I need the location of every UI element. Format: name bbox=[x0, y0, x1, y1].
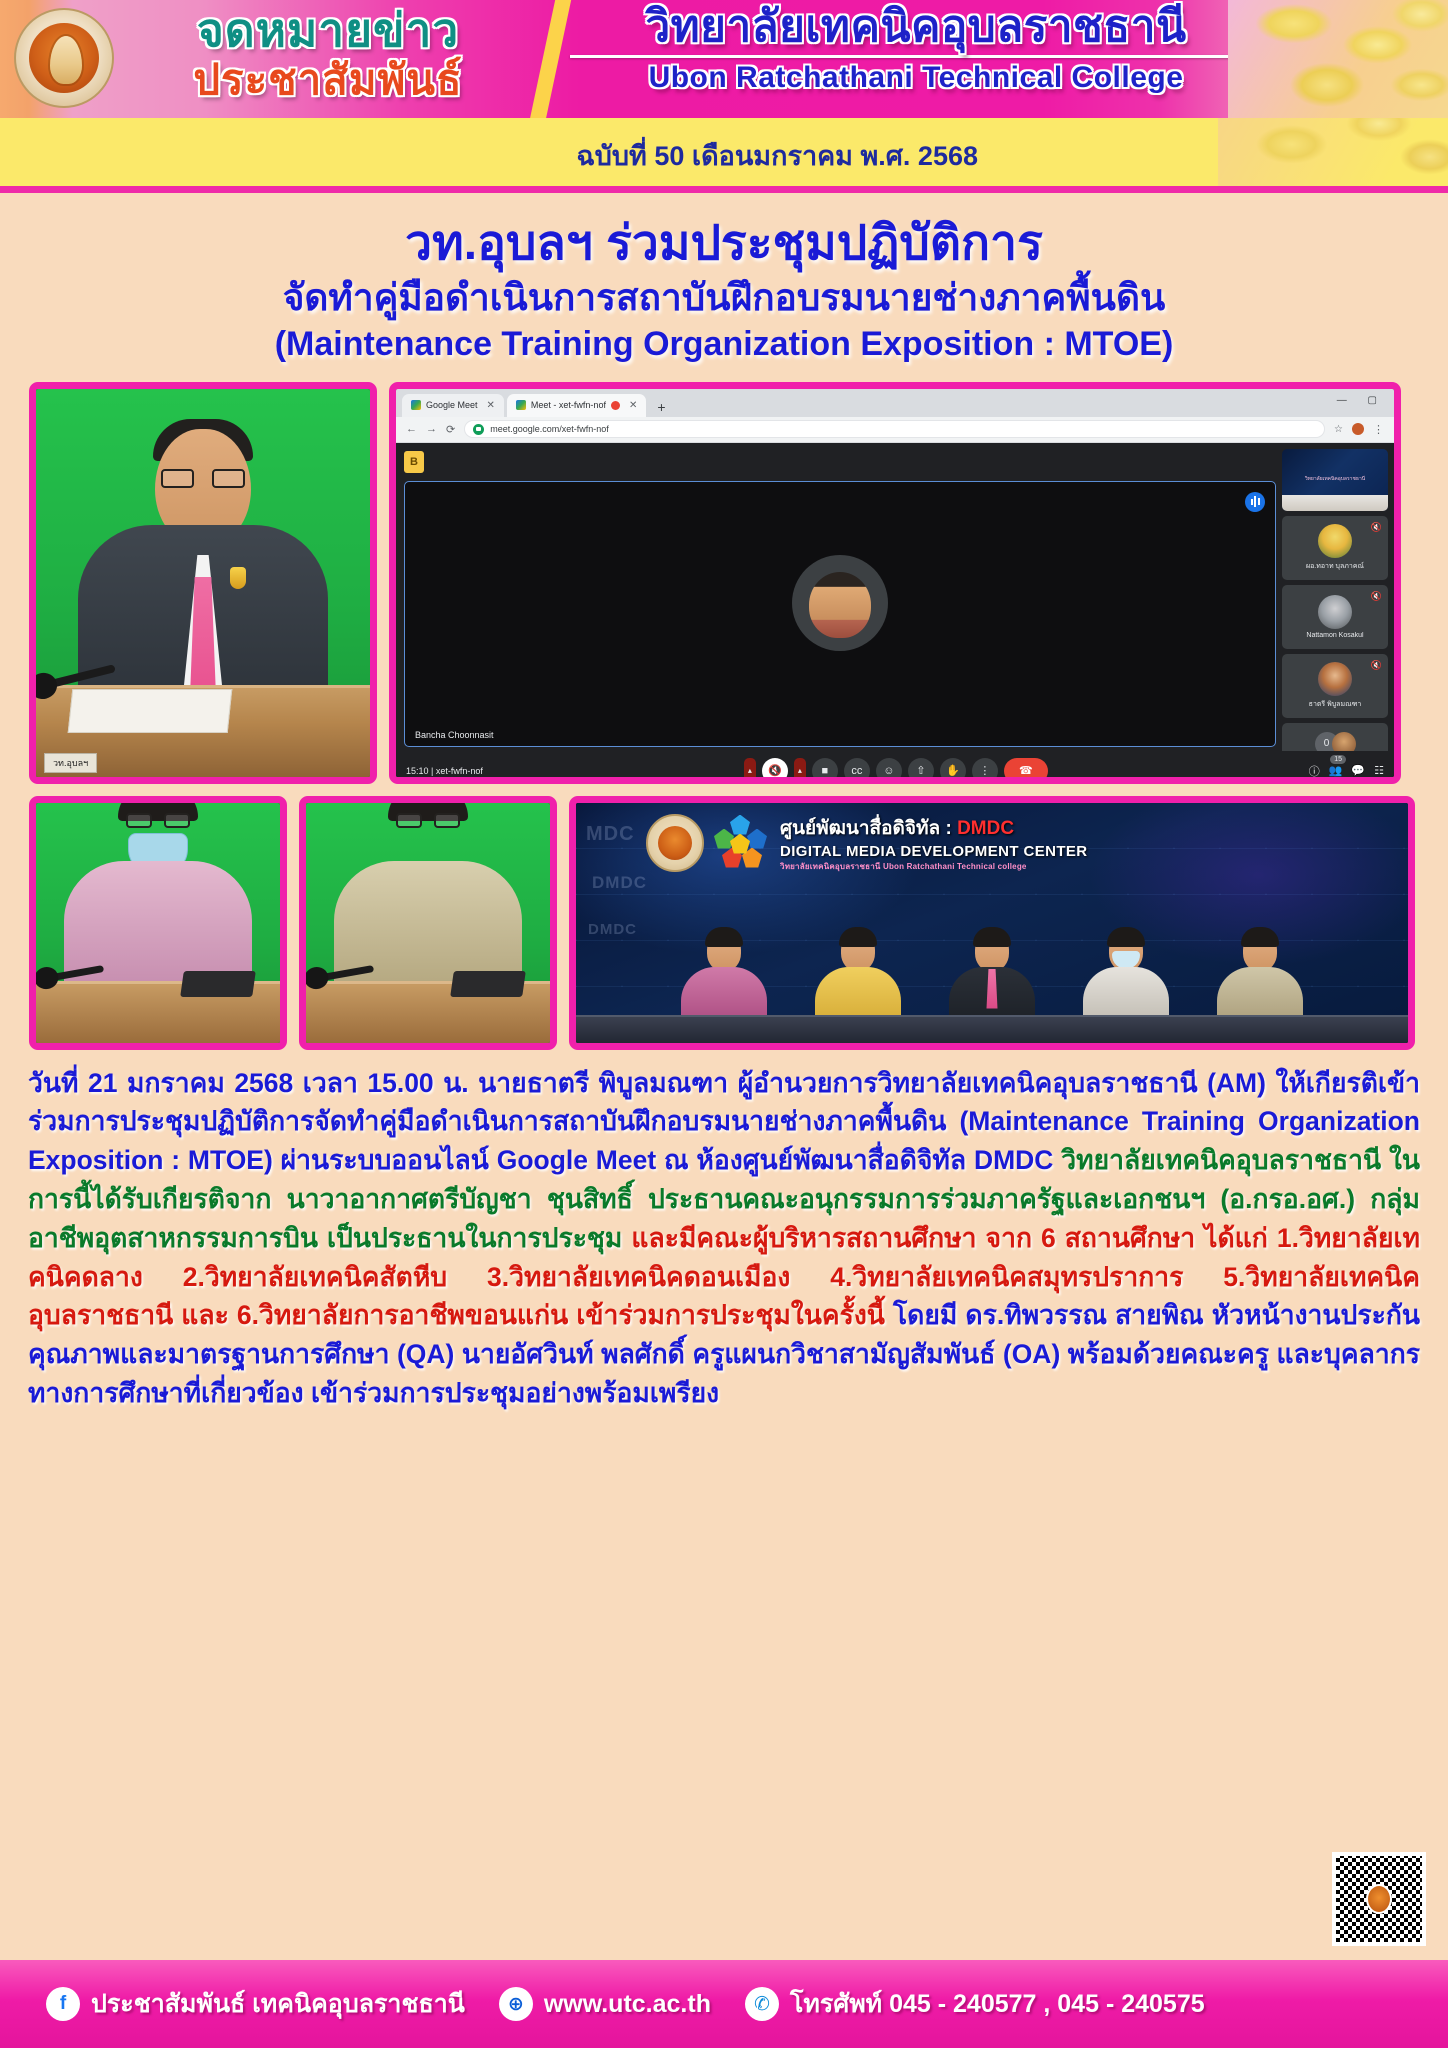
glasses-icon bbox=[126, 813, 190, 829]
meet-secondary-controls: 15 ⓘ 👥 💬 ☷ bbox=[1309, 763, 1384, 779]
participant-tile[interactable]: 🔇 ผอ.ทอาท บุลภาคณ์ bbox=[1282, 516, 1388, 580]
reload-icon[interactable]: ⟳ bbox=[446, 423, 455, 436]
footer-website[interactable]: ⊕ www.utc.ac.th bbox=[499, 1987, 711, 2021]
photo-staff-male bbox=[299, 796, 557, 1050]
participant-avatar bbox=[1318, 662, 1352, 696]
college-name-thai: วิทยาลัยเทคนิคอุบลราชธานี bbox=[566, 2, 1266, 53]
browser-tab-2-title: Meet - xet-fwfn-nof bbox=[531, 400, 606, 410]
phone-label: โทรศัพท์ 045 - 240577 , 045 - 240575 bbox=[790, 1984, 1205, 2024]
flower-decoration-secondary-icon bbox=[1218, 118, 1448, 186]
forward-icon[interactable]: → bbox=[426, 423, 437, 435]
present-screen-button[interactable]: ⇧ bbox=[908, 758, 934, 784]
college-name-english: Ubon Ratchathani Technical College bbox=[566, 61, 1266, 95]
dmdc-title-thai-text: ศูนย์พัฒนาสื่อดิจิทัล : bbox=[780, 818, 957, 839]
meet-time-and-code: 15:10 | xet-fwfn-nof bbox=[406, 766, 483, 776]
close-tab-icon[interactable]: ✕ bbox=[487, 400, 495, 411]
headline-primary: วท.อุบลฯ ร่วมประชุมปฏิบัติการ bbox=[0, 215, 1448, 274]
back-icon[interactable]: ← bbox=[406, 423, 417, 435]
dmdc-abbr: DMDC bbox=[957, 818, 1014, 839]
headline-english: (Maintenance Training Organization Expos… bbox=[0, 322, 1448, 368]
chat-icon[interactable]: 💬 bbox=[1351, 764, 1365, 777]
address-text: meet.google.com/xet-fwfn-nof bbox=[490, 424, 609, 434]
meet-time: 15:10 bbox=[406, 766, 429, 776]
meet-extension-badge[interactable]: B bbox=[404, 451, 424, 473]
facebook-label: ประชาสัมพันธ์ เทคนิคอุบลราชธานี bbox=[91, 1984, 465, 2024]
more-options-button[interactable]: ⋮ bbox=[972, 758, 998, 784]
meet-favicon-icon bbox=[411, 400, 421, 410]
captions-button[interactable]: cc bbox=[844, 758, 870, 784]
meet-primary-controls: ▴ 🔇 ▴ ■ cc ☺ ⇧ ✋ ⋮ ☎ bbox=[483, 758, 1309, 784]
mic-dropdown-button[interactable]: ▴ bbox=[744, 758, 756, 784]
footer-contact-bar: f ประชาสัมพันธ์ เทคนิคอุบลราชธานี ⊕ www.… bbox=[0, 1960, 1448, 2048]
browser-tab-bar: Google Meet ✕ Meet - xet-fwfn-nof ✕ + — … bbox=[396, 389, 1394, 417]
qr-code[interactable] bbox=[1332, 1852, 1426, 1946]
meet-active-speaker-tile[interactable]: Bancha Choonnasit bbox=[404, 481, 1276, 747]
conference-table bbox=[576, 1015, 1408, 1043]
participant-name: ธาตรี พิบูลมณฑา bbox=[1309, 699, 1362, 710]
article-body: วันที่ 21 มกราคม 2568 เวลา 15.00 น. นายธ… bbox=[24, 1064, 1424, 1413]
dmdc-title-english: DIGITAL MEDIA DEVELOPMENT CENTER bbox=[780, 843, 1088, 860]
newsletter-masthead: จดหมายข่าว ประชาสัมพันธ์ bbox=[128, 4, 528, 103]
participant-tile-banner[interactable]: วิทยาลัยเทคนิคอุบลราชธานี bbox=[1282, 449, 1388, 511]
photo-google-meet-screenshot: Google Meet ✕ Meet - xet-fwfn-nof ✕ + — … bbox=[389, 382, 1401, 784]
camera-dropdown-button[interactable]: ▴ bbox=[794, 758, 806, 784]
desk-nameplate: วท.อุบลฯ bbox=[44, 753, 97, 773]
meet-separator: | bbox=[431, 766, 433, 776]
participant-tile[interactable]: 🔇 Nattamon Kosakul bbox=[1282, 585, 1388, 649]
tablet-device bbox=[180, 971, 256, 997]
participant-avatar bbox=[1318, 595, 1352, 629]
photo-director: วท.อุบลฯ bbox=[29, 382, 377, 784]
window-controls[interactable]: — ▢ bbox=[1337, 395, 1386, 406]
photo-dmdc-studio: MDC DMDC DMDC ศูนย์พัฒนาสื่อดิจิทัล : DM… bbox=[569, 796, 1415, 1050]
audio-level-icon bbox=[1245, 492, 1265, 512]
mic-muted-icon: 🔇 bbox=[1371, 660, 1382, 671]
issue-number-text: ฉบับที่ 50 เดือนมกราคม พ.ศ. 2568 bbox=[576, 134, 978, 177]
meet-stage: B Bancha Choonnasit วิทยาลัยเทคนิคอุบลรา… bbox=[396, 443, 1394, 784]
dmdc-logo-icon bbox=[714, 815, 770, 871]
activities-icon[interactable]: ☷ bbox=[1374, 764, 1384, 777]
mic-muted-icon: 🔇 bbox=[1371, 522, 1382, 533]
flower-decoration-icon bbox=[1228, 0, 1448, 118]
dmdc-branding: ศูนย์พัฒนาสื่อดิจิทัล : DMDC DIGITAL MED… bbox=[646, 813, 1394, 873]
new-tab-button[interactable]: + bbox=[649, 399, 673, 417]
participant-name: ผอ.ทอาท บุลภาคณ์ bbox=[1306, 561, 1364, 572]
meet-code: xet-fwfn-nof bbox=[436, 766, 483, 776]
raise-hand-button[interactable]: ✋ bbox=[940, 758, 966, 784]
camera-toggle-button[interactable]: ■ bbox=[812, 758, 838, 784]
meet-participant-panel: วิทยาลัยเทคนิคอุบลราชธานี 🔇 ผอ.ทอาท บุลภ… bbox=[1282, 443, 1394, 784]
glasses-icon bbox=[396, 813, 460, 829]
browser-menu-icon[interactable]: ⋮ bbox=[1373, 423, 1384, 436]
phone-icon: ✆ bbox=[745, 1987, 779, 2021]
profile-avatar[interactable] bbox=[1352, 423, 1364, 435]
dmdc-watermark: DMDC bbox=[592, 873, 647, 893]
address-input[interactable]: meet.google.com/xet-fwfn-nof bbox=[464, 420, 1325, 438]
college-masthead: วิทยาลัยเทคนิคอุบลราชธานี Ubon Ratchatha… bbox=[566, 2, 1266, 95]
banner-tile-strip bbox=[1282, 495, 1388, 511]
meet-main-area: B Bancha Choonnasit bbox=[396, 443, 1282, 784]
mic-toggle-button[interactable]: 🔇 bbox=[762, 758, 788, 784]
issue-bar: ฉบับที่ 50 เดือนมกราคม พ.ศ. 2568 bbox=[0, 118, 1448, 186]
masthead-rule bbox=[570, 55, 1262, 58]
photo-row-top: วท.อุบลฯ Google Meet ✕ Meet - xet-fwfn-n… bbox=[29, 382, 1419, 784]
people-count-badge: 15 bbox=[1330, 755, 1346, 764]
browser-tab-1[interactable]: Google Meet ✕ bbox=[402, 394, 504, 417]
lapel-pin-icon bbox=[230, 567, 246, 589]
poster-body: วท.อุบลฯ ร่วมประชุมปฏิบัติการ จัดทำคู่มื… bbox=[0, 186, 1448, 2048]
emoji-button[interactable]: ☺ bbox=[876, 758, 902, 784]
browser-tab-1-title: Google Meet bbox=[426, 400, 478, 410]
photo-staff-female bbox=[29, 796, 287, 1050]
recording-indicator-icon bbox=[611, 401, 620, 410]
active-speaker-avatar bbox=[792, 555, 888, 651]
dmdc-subtitle: วิทยาลัยเทคนิคอุบลราชธานี Ubon Ratchatha… bbox=[780, 860, 1088, 873]
banner-tile-text: วิทยาลัยเทคนิคอุบลราชธานี bbox=[1302, 476, 1368, 483]
bookmark-star-icon[interactable]: ☆ bbox=[1334, 424, 1343, 435]
active-speaker-name: Bancha Choonnasit bbox=[415, 730, 494, 740]
browser-tab-2[interactable]: Meet - xet-fwfn-nof ✕ bbox=[507, 394, 646, 417]
footer-facebook[interactable]: f ประชาสัมพันธ์ เทคนิคอุบลราชธานี bbox=[46, 1984, 465, 2024]
participant-tile[interactable]: 🔇 ธาตรี พิบูลมณฑา bbox=[1282, 654, 1388, 718]
mic-muted-icon: 🔇 bbox=[1371, 591, 1382, 602]
end-call-button[interactable]: ☎ bbox=[1004, 758, 1048, 784]
participant-name: Nattamon Kosakul bbox=[1306, 632, 1363, 639]
glasses-icon bbox=[161, 469, 245, 489]
ministry-seal-icon bbox=[14, 8, 114, 108]
avatar-photo bbox=[809, 572, 871, 638]
people-icon[interactable]: 👥 bbox=[1329, 764, 1343, 777]
site-meet-icon bbox=[473, 424, 484, 435]
meeting-info-icon[interactable]: ⓘ bbox=[1309, 763, 1320, 779]
close-tab-icon[interactable]: ✕ bbox=[629, 400, 637, 411]
photo-gallery: วท.อุบลฯ Google Meet ✕ Meet - xet-fwfn-n… bbox=[29, 382, 1419, 1050]
ministry-seal-icon bbox=[646, 814, 704, 872]
participant-avatar bbox=[1318, 524, 1352, 558]
headline-block: วท.อุบลฯ ร่วมประชุมปฏิบัติการ จัดทำคู่มื… bbox=[0, 193, 1448, 368]
headline-secondary: จัดทำคู่มือดำเนินการสถาบันฝึกอบรมนายช่าง… bbox=[0, 274, 1448, 322]
footer-phone[interactable]: ✆ โทรศัพท์ 045 - 240577 , 045 - 240575 bbox=[745, 1984, 1205, 2024]
newsletter-title-line2: ประชาสัมพันธ์ bbox=[128, 57, 528, 103]
website-label: www.utc.ac.th bbox=[544, 1990, 711, 2019]
newsletter-title-line1: จดหมายข่าว bbox=[128, 4, 528, 57]
browser-url-bar: ← → ⟳ meet.google.com/xet-fwfn-nof ☆ ⋮ bbox=[396, 417, 1394, 443]
header-banner: จดหมายข่าว ประชาสัมพันธ์ วิทยาลัยเทคนิคอ… bbox=[0, 0, 1448, 118]
tablet-device bbox=[450, 971, 526, 997]
facebook-icon: f bbox=[46, 1987, 80, 2021]
meet-favicon-icon bbox=[516, 400, 526, 410]
dmdc-title-thai: ศูนย์พัฒนาสื่อดิจิทัล : DMDC bbox=[780, 813, 1088, 843]
paper-document bbox=[68, 689, 233, 733]
photo-row-bottom: MDC DMDC DMDC ศูนย์พัฒนาสื่อดิจิทัล : DM… bbox=[29, 796, 1419, 1050]
meet-control-bar: 15:10 | xet-fwfn-nof ▴ 🔇 ▴ ■ cc ☺ ⇧ bbox=[396, 751, 1394, 784]
globe-icon: ⊕ bbox=[499, 1987, 533, 2021]
dmdc-watermark: MDC bbox=[586, 823, 635, 846]
